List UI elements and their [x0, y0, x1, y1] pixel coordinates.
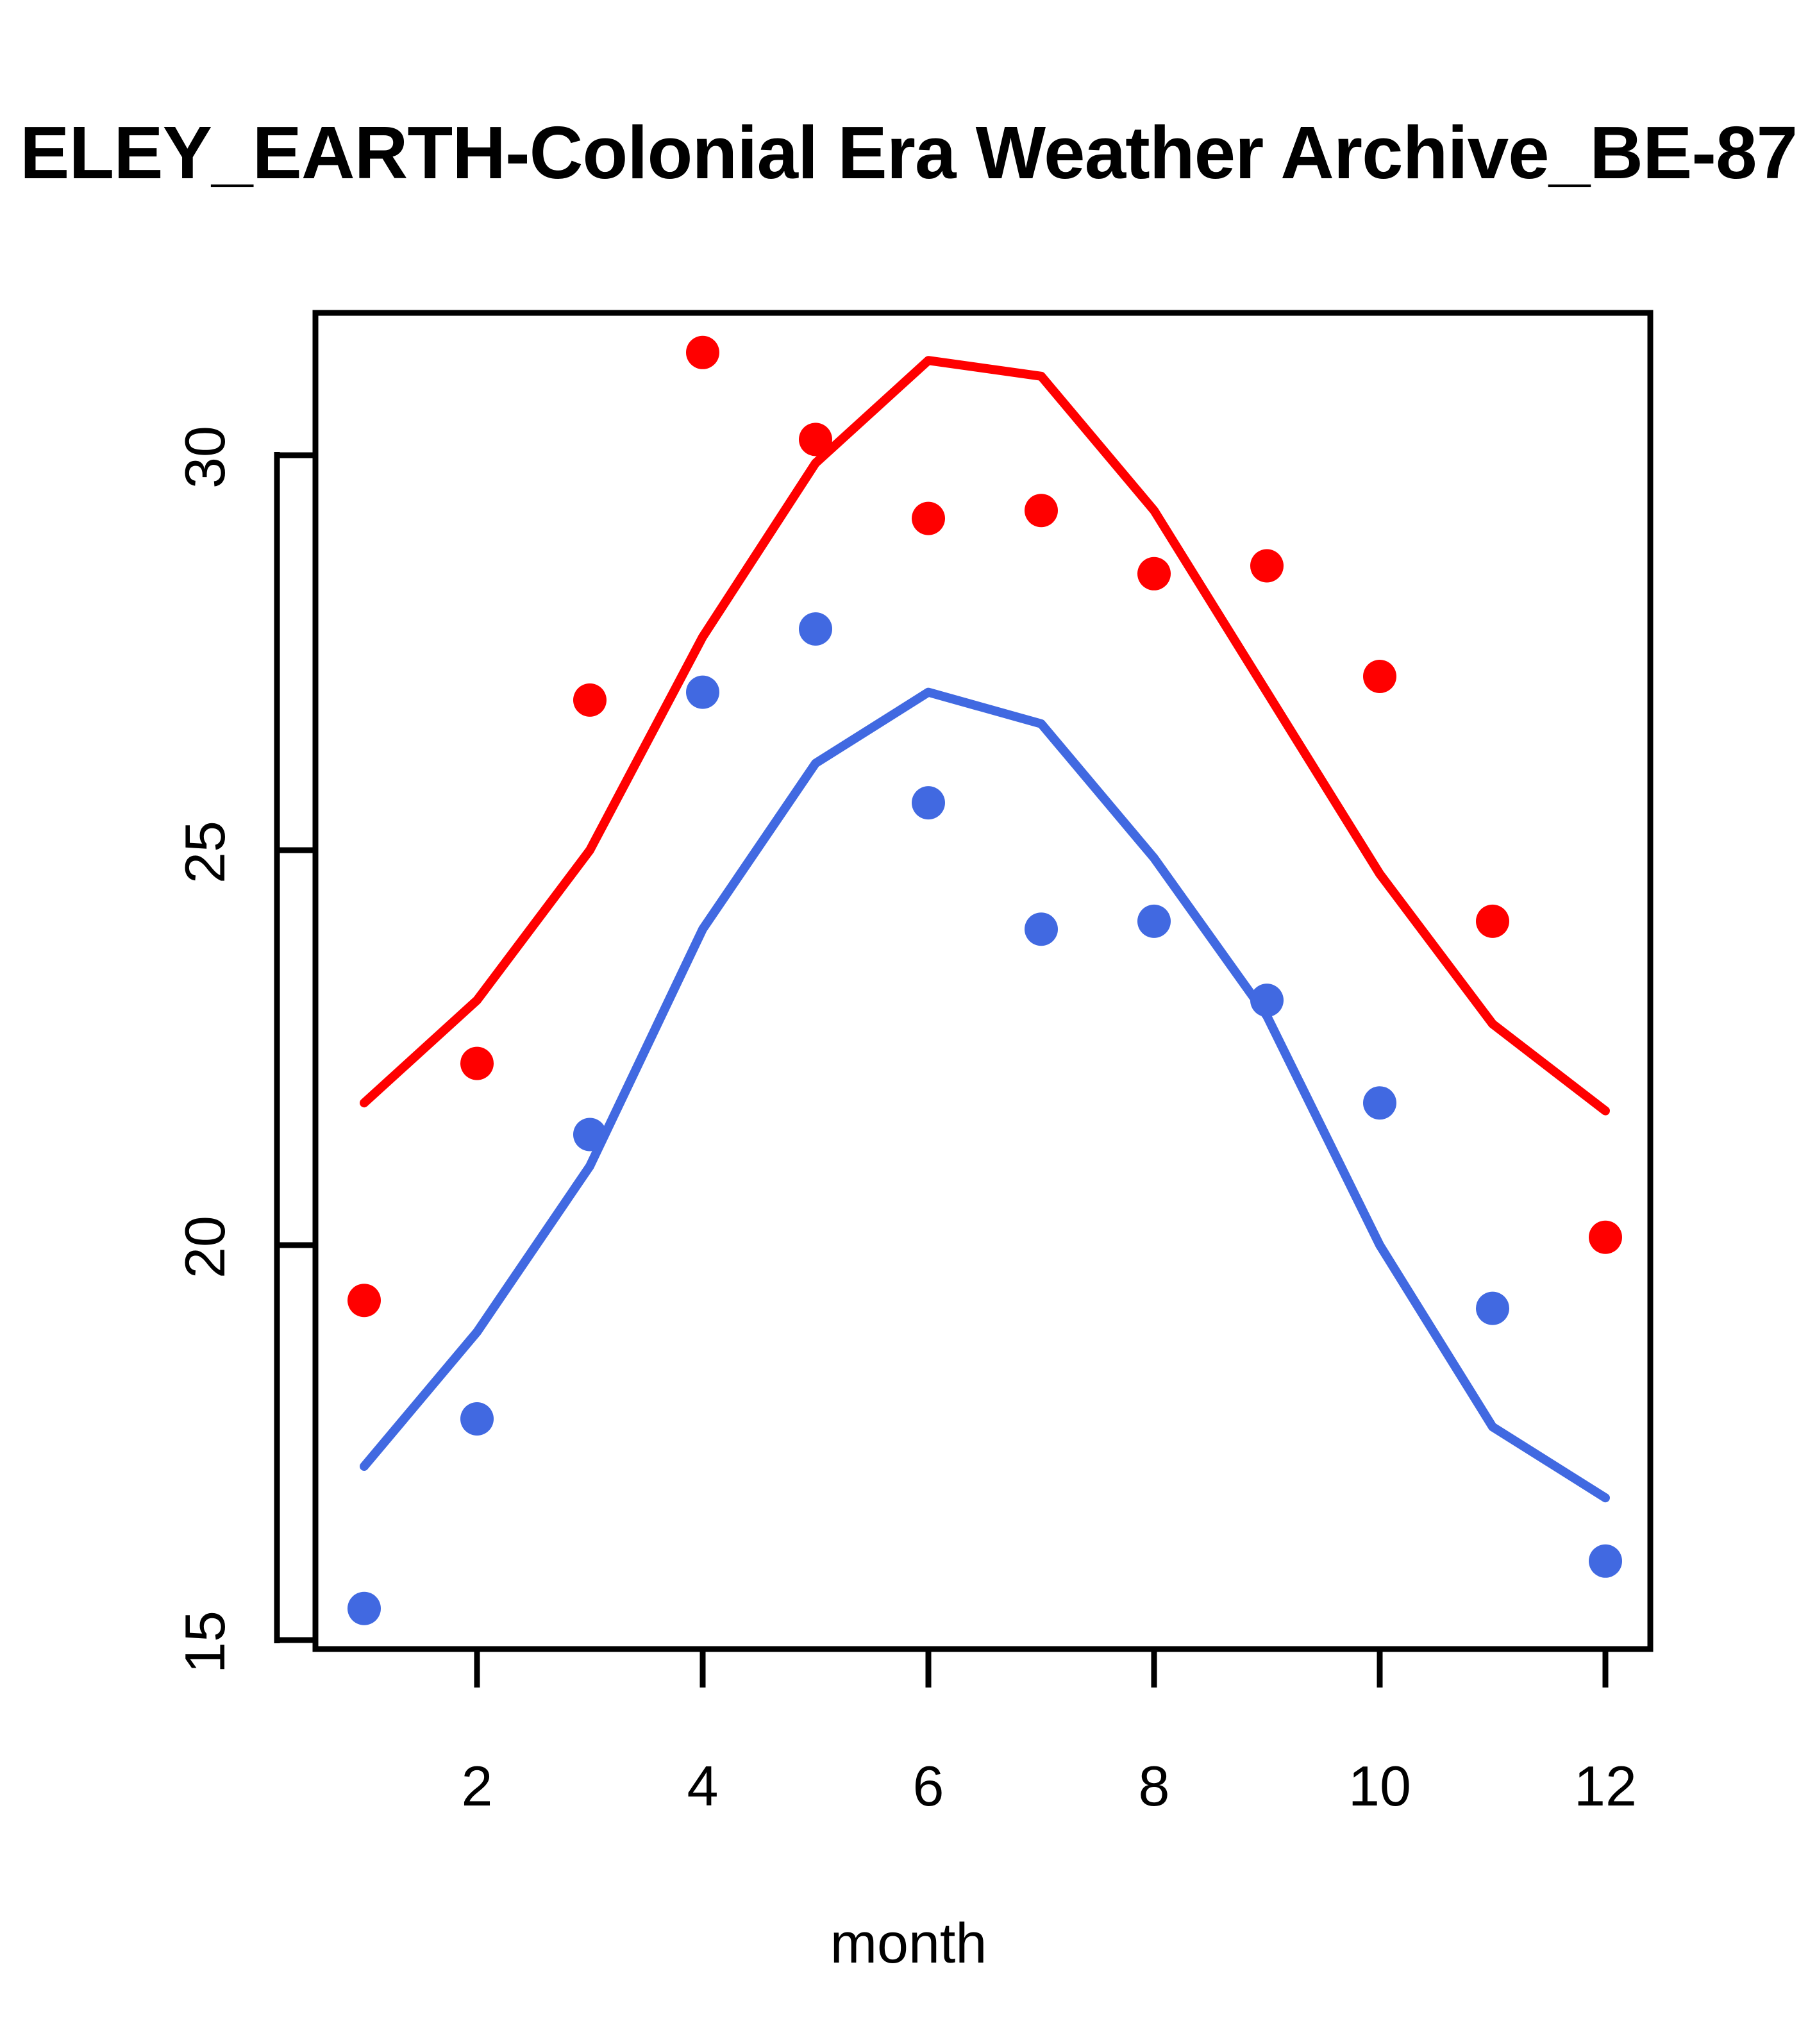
data-point [347, 1592, 381, 1625]
data-point [1363, 660, 1396, 693]
data-point [1025, 912, 1058, 946]
data-point [799, 423, 832, 456]
data-point [1589, 1221, 1622, 1254]
x-tick-label-8: 8 [1090, 1754, 1218, 1819]
high-temperature-line [364, 360, 1605, 1110]
data-point [1476, 1292, 1509, 1325]
data-point [1250, 549, 1284, 583]
chart-page: ELEY_EARTH-Colonial Era Weather Archive_… [0, 0, 1817, 2044]
x-tick-label-4: 4 [639, 1754, 767, 1819]
plot-frame [315, 313, 1650, 1649]
data-point [1363, 1086, 1396, 1119]
data-point [1137, 905, 1171, 938]
data-point [1137, 557, 1171, 591]
data-point [912, 786, 945, 819]
plot-canvas [0, 0, 1817, 2044]
data-point [799, 612, 832, 646]
high-temperature-points [347, 336, 1622, 1317]
y-tick-label-20: 20 [172, 1202, 238, 1292]
x-axis-ticks [474, 1649, 1609, 1688]
data-point [1250, 984, 1284, 1017]
data-point [1025, 494, 1058, 527]
x-tick-label-2: 2 [413, 1754, 541, 1819]
data-point [686, 676, 719, 709]
x-axis-title: month [0, 1911, 1817, 1976]
data-point [573, 1118, 607, 1152]
data-point [460, 1402, 494, 1436]
low-temperature-points [347, 612, 1622, 1625]
data-point [573, 683, 607, 717]
y-axis-ticks [277, 452, 315, 1643]
y-tick-label-25: 25 [172, 807, 238, 897]
data-point [347, 1284, 381, 1317]
y-tick-label-15: 15 [172, 1597, 238, 1687]
data-point [1476, 905, 1509, 938]
data-point [1589, 1545, 1622, 1578]
x-tick-label-12: 12 [1541, 1754, 1670, 1819]
low-temperature-line [364, 692, 1605, 1498]
x-tick-label-6: 6 [864, 1754, 992, 1819]
data-point [460, 1047, 494, 1080]
y-tick-label-30: 30 [172, 412, 238, 502]
data-point [912, 502, 945, 535]
x-tick-label-10: 10 [1316, 1754, 1444, 1819]
data-point [686, 336, 719, 369]
